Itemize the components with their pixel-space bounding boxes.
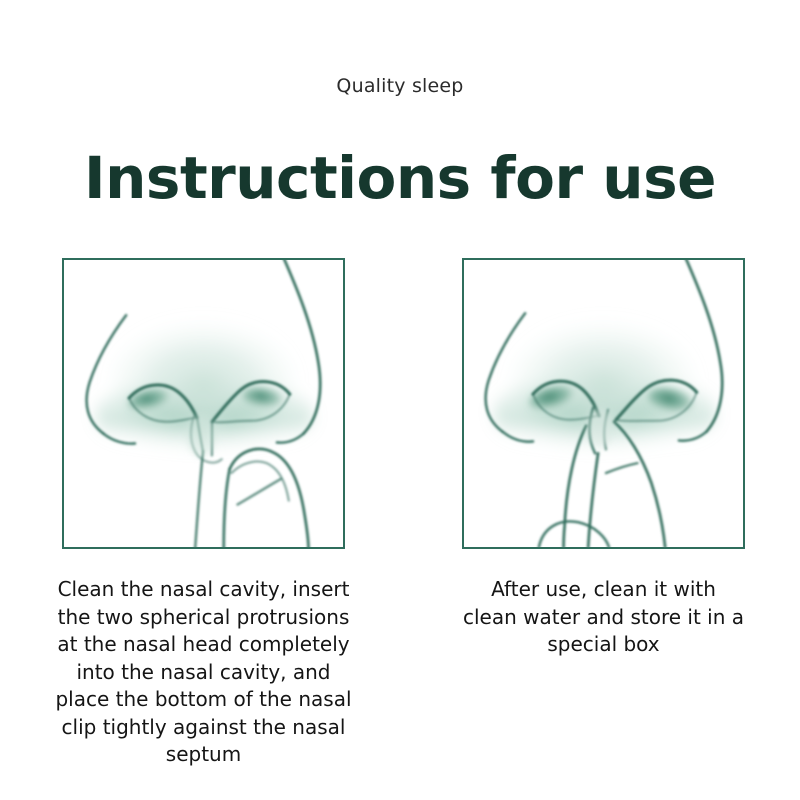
page-title: Instructions for use: [0, 143, 800, 213]
eyebrow-text: Quality sleep: [0, 74, 800, 98]
instruction-page: Quality sleep Instructions for use: [0, 0, 800, 800]
step-caption-insert: Clean the nasal cavity, insert the two s…: [54, 576, 353, 769]
step-card-insert: Clean the nasal cavity, insert the two s…: [62, 258, 345, 549]
illustration-frame-clean: [462, 258, 745, 549]
clip-highlight: [587, 408, 613, 447]
nose-worn-clip-illustration: [464, 260, 743, 547]
step-caption-clean: After use, clean it with clean water and…: [462, 576, 745, 659]
nose-insertion-illustration: [64, 260, 343, 547]
illustration-frame-insert: [62, 258, 345, 549]
step-card-clean: After use, clean it with clean water and…: [462, 258, 745, 549]
clip-highlight: [187, 414, 215, 457]
